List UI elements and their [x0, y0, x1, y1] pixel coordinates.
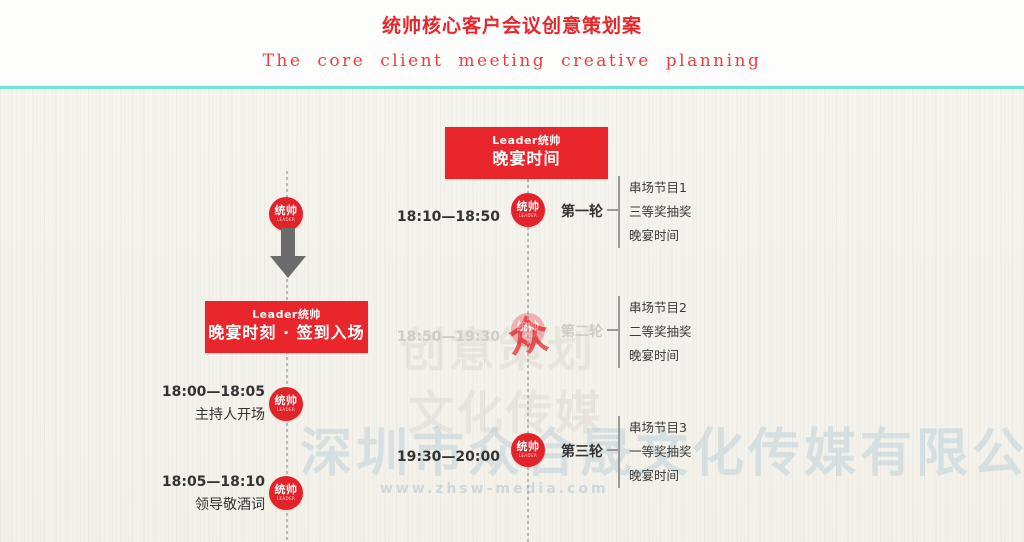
down-arrow-icon	[268, 228, 308, 280]
badge-label-cn: 统帅	[275, 205, 298, 217]
round-label-3: 第三轮	[561, 441, 603, 461]
badge-label-cn: 统帅	[517, 201, 540, 213]
bracket-connector-1	[607, 209, 618, 211]
badge-label-en: LEADER	[277, 217, 295, 223]
banner-title: 晚宴时间	[445, 148, 608, 170]
bracket-connector-3	[607, 449, 618, 451]
badge-label-cn: 统帅	[275, 484, 298, 496]
round-label-1: 第一轮	[561, 201, 603, 221]
row-label: 领导敬酒词	[120, 493, 265, 517]
banner-brand-label: Leader统帅	[205, 307, 368, 322]
sub-item: 晚宴时间	[629, 224, 692, 248]
row-time: 18:05—18:10	[120, 471, 265, 493]
page-title: 统帅核心客户会议创意策划案	[382, 12, 642, 40]
watermark-url: www.zhsw-media.com	[380, 481, 609, 497]
brand-badge-right-1: 统帅 LEADER	[511, 193, 545, 227]
sub-item: 晚宴时间	[629, 344, 692, 368]
row-time: 18:00—18:05	[120, 381, 265, 403]
bracket-connector-2	[607, 329, 618, 331]
row-label: 主持人开场	[120, 403, 265, 427]
badge-label-en: LEADER	[519, 213, 537, 219]
brand-badge-arrow: 统帅 LEADER	[269, 197, 303, 231]
page-subtitle: The core client meeting creative plannin…	[263, 46, 762, 76]
banner-checkin[interactable]: Leader统帅 晚宴时刻 · 签到入场	[205, 301, 368, 353]
page-header: 统帅核心客户会议创意策划案 The core client meeting cr…	[0, 0, 1024, 88]
bracket-3: 串场节目3 一等奖抽奖 晚宴时间	[618, 416, 692, 488]
round-label-2: 第二轮	[561, 321, 603, 341]
badge-label-cn: 统帅	[517, 441, 540, 453]
sub-item: 二等奖抽奖	[629, 320, 692, 344]
row-time: 18:10—18:50	[397, 209, 500, 225]
bracket-2: 串场节目2 二等奖抽奖 晚宴时间	[618, 296, 692, 368]
brand-badge-left-2: 统帅 LEADER	[269, 476, 303, 510]
row-time: 19:30—20:00	[397, 449, 500, 465]
sub-item: 串场节目2	[629, 296, 692, 320]
badge-label-en: LEADER	[519, 333, 537, 339]
sub-item: 三等奖抽奖	[629, 200, 692, 224]
banner-brand-label: Leader统帅	[445, 133, 608, 148]
row-time: 18:50—19:30	[397, 329, 500, 345]
banner-title: 晚宴时刻 · 签到入场	[205, 322, 368, 344]
timeline-canvas: 创意策划 文化传媒 深圳市众合晟文化传媒有限公司 www.zhsw-media.…	[0, 89, 1024, 542]
left-row-2: 18:05—18:10 领导敬酒词	[120, 471, 265, 517]
sub-item: 晚宴时间	[629, 464, 692, 488]
badge-label-cn: 统帅	[275, 395, 298, 407]
badge-label-cn: 统帅	[517, 321, 540, 333]
badge-label-en: LEADER	[277, 496, 295, 502]
banner-dinner-time[interactable]: Leader统帅 晚宴时间	[445, 127, 608, 179]
watermark-faint-2: 文化传媒	[408, 377, 604, 443]
bracket-1: 串场节目1 三等奖抽奖 晚宴时间	[618, 176, 692, 248]
badge-label-en: LEADER	[277, 407, 295, 413]
badge-label-en: LEADER	[519, 453, 537, 459]
brand-badge-left-1: 统帅 LEADER	[269, 387, 303, 421]
brand-badge-right-3: 统帅 LEADER	[511, 433, 545, 467]
sub-item: 串场节目1	[629, 176, 692, 200]
sub-item: 串场节目3	[629, 416, 692, 440]
sub-item: 一等奖抽奖	[629, 440, 692, 464]
left-row-1: 18:00—18:05 主持人开场	[120, 381, 265, 427]
brand-badge-right-2: 统帅 LEADER	[511, 313, 545, 347]
